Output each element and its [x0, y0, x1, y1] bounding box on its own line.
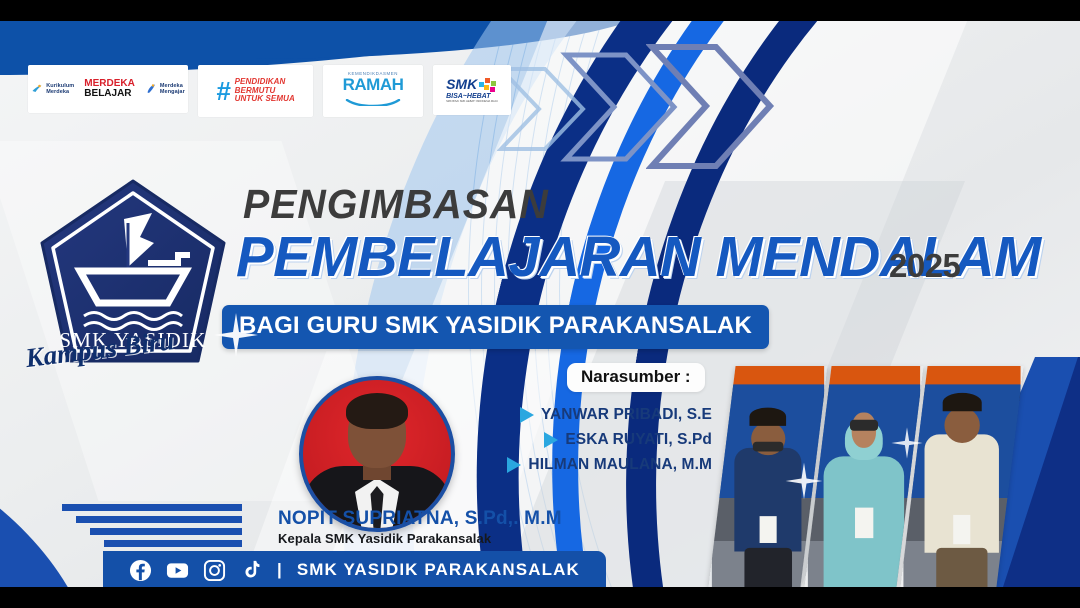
poster-artboard: Kurikulum Merdeka MERDEKA BELAJAR: [0, 21, 1080, 587]
mengajar-bird-icon: [145, 83, 157, 95]
triangle-bullet-icon: [544, 432, 558, 448]
ramah-wordmark: RAMAH: [343, 76, 404, 93]
facebook-icon[interactable]: [129, 559, 152, 582]
decor-stripes: [62, 504, 242, 552]
hashtag-icon: #: [216, 79, 230, 103]
portrait-hair: [346, 393, 408, 429]
smk-tagline: SMK BISA! SMK HEBAT! INDONESIA MAJU: [446, 100, 498, 103]
headline-eyebrow: PENGIMBASAN: [243, 181, 549, 228]
merdeka-mengajar-mark: Merdeka Mengajar: [145, 83, 185, 96]
merdeka-swoosh-icon: [31, 83, 43, 95]
pendidikan-line3: UNTUK SEMUA: [235, 95, 295, 104]
speaker-list: YANWAR PRIBADI, S.E ESKA RUYATI, S.Pd HI…: [470, 406, 712, 481]
ramah-smile-icon: [345, 99, 401, 106]
tiktok-icon[interactable]: [240, 559, 263, 582]
flyer-canvas: Kurikulum Merdeka MERDEKA BELAJAR: [0, 0, 1080, 608]
speaker-photo-gallery: [722, 366, 1012, 587]
youtube-icon[interactable]: [166, 559, 189, 582]
speaker-item: ESKA RUYATI, S.Pd: [470, 431, 712, 449]
partner-logo-row: Kurikulum Merdeka MERDEKA BELAJAR: [28, 65, 511, 117]
speaker-item: HILMAN MAULANA, M.M: [470, 456, 712, 474]
triangle-bullet-icon: [507, 457, 521, 473]
instagram-icon[interactable]: [203, 559, 226, 582]
mengajar-line2: Mengajar: [160, 89, 185, 96]
kurikulum-line2: Merdeka: [46, 89, 74, 96]
triangle-bullet-icon: [520, 407, 534, 423]
social-handle: SMK YASIDIK PARAKANSALAK: [297, 560, 580, 580]
social-divider: |: [277, 560, 283, 580]
smk-bisa-hebat-sub: BISA~HEBAT: [446, 93, 498, 100]
principal-name: NOPIT SUPRIATNA, S.Pd,. M.M: [278, 508, 562, 530]
pendidikan-bermutu-logo: # PENDIDIKAN BERMUTU UNTUK SEMUA: [198, 65, 313, 117]
letterbox-bottom: [0, 587, 1080, 608]
smk-wordmark: SMK: [446, 78, 477, 91]
narasumber-label: Narasumber :: [567, 363, 705, 392]
kurikulum-merdeka-mark: Kurikulum Merdeka: [31, 83, 74, 96]
headline-year: 2025: [889, 247, 960, 285]
principal-role: Kepala SMK Yasidik Parakansalak: [278, 531, 491, 546]
speaker-name: ESKA RUYATI, S.Pd: [565, 431, 712, 449]
speaker-name: YANWAR PRIBADI, S.E: [541, 406, 712, 424]
kurikulum-merdeka-logo: Kurikulum Merdeka MERDEKA BELAJAR: [28, 65, 188, 113]
smk-confetti-icon: [479, 78, 497, 93]
social-bar: | SMK YASIDIK PARAKANSALAK: [103, 551, 606, 587]
merdeka-belajar-mark: MERDEKA BELAJAR: [84, 79, 135, 99]
ramah-logo: KEMENDIKDASMEN RAMAH: [323, 65, 423, 117]
merdeka-belajar-line2: BELAJAR: [84, 89, 135, 99]
speaker-item: YANWAR PRIBADI, S.E: [470, 406, 712, 424]
chevron-outline-2: [646, 39, 776, 174]
speaker-name: HILMAN MAULANA, M.M: [528, 456, 712, 474]
letterbox-top: [0, 0, 1080, 21]
smk-bisa-hebat-logo: SMK BISA~HEBAT SMK BISA! SMK HEBAT! INDO…: [433, 65, 511, 115]
headline-banner: BAGI GURU SMK YASIDIK PARAKANSALAK: [222, 305, 769, 349]
